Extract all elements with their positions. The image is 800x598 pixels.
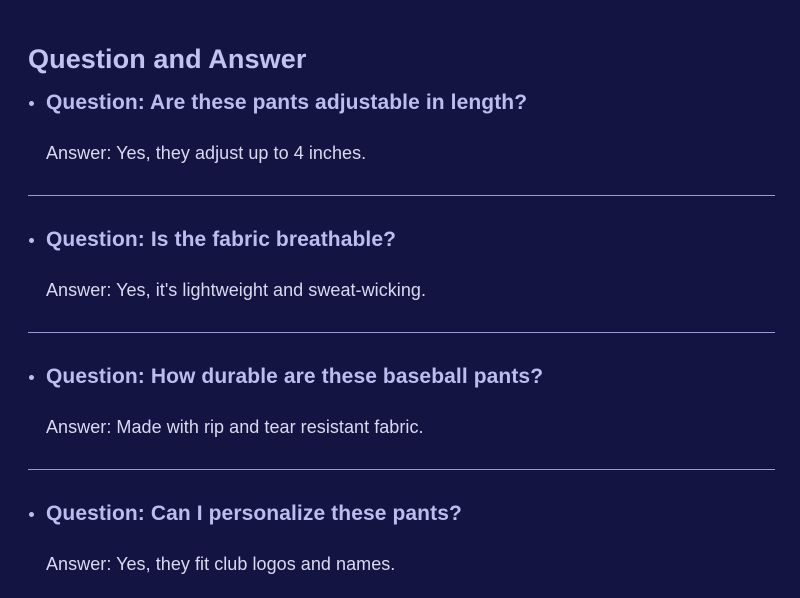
qa-answer: Answer: Yes, they fit club logos and nam… (0, 551, 800, 577)
page-title: Question and Answer (28, 42, 306, 76)
bullet-icon (29, 512, 34, 517)
qa-question[interactable]: Question: Are these pants adjustable in … (0, 88, 800, 118)
qa-divider (28, 195, 775, 196)
qa-answer: Answer: Yes, it's lightweight and sweat-… (0, 277, 800, 303)
qa-item[interactable]: Question: Are these pants adjustable in … (0, 88, 800, 166)
qa-question-text: Question: Can I personalize these pants? (46, 502, 462, 525)
qa-item[interactable]: Question: Can I personalize these pants?… (0, 499, 800, 577)
qa-question-text: Question: How durable are these baseball… (46, 365, 543, 388)
bullet-icon (29, 101, 34, 106)
qa-question-text: Question: Are these pants adjustable in … (46, 91, 527, 114)
bullet-icon (29, 238, 34, 243)
qa-question[interactable]: Question: How durable are these baseball… (0, 362, 800, 392)
qa-divider (28, 469, 775, 470)
qa-item[interactable]: Question: Is the fabric breathable? Answ… (0, 225, 800, 303)
qa-item[interactable]: Question: How durable are these baseball… (0, 362, 800, 440)
qa-question-text: Question: Is the fabric breathable? (46, 228, 396, 251)
qa-question[interactable]: Question: Is the fabric breathable? (0, 225, 800, 255)
bullet-icon (29, 375, 34, 380)
qa-question[interactable]: Question: Can I personalize these pants? (0, 499, 800, 529)
qa-divider (28, 332, 775, 333)
qa-page: Question and Answer Question: Are these … (0, 0, 800, 598)
qa-answer: Answer: Made with rip and tear resistant… (0, 414, 800, 440)
qa-answer: Answer: Yes, they adjust up to 4 inches. (0, 140, 800, 166)
qa-list: Question: Are these pants adjustable in … (0, 88, 800, 577)
